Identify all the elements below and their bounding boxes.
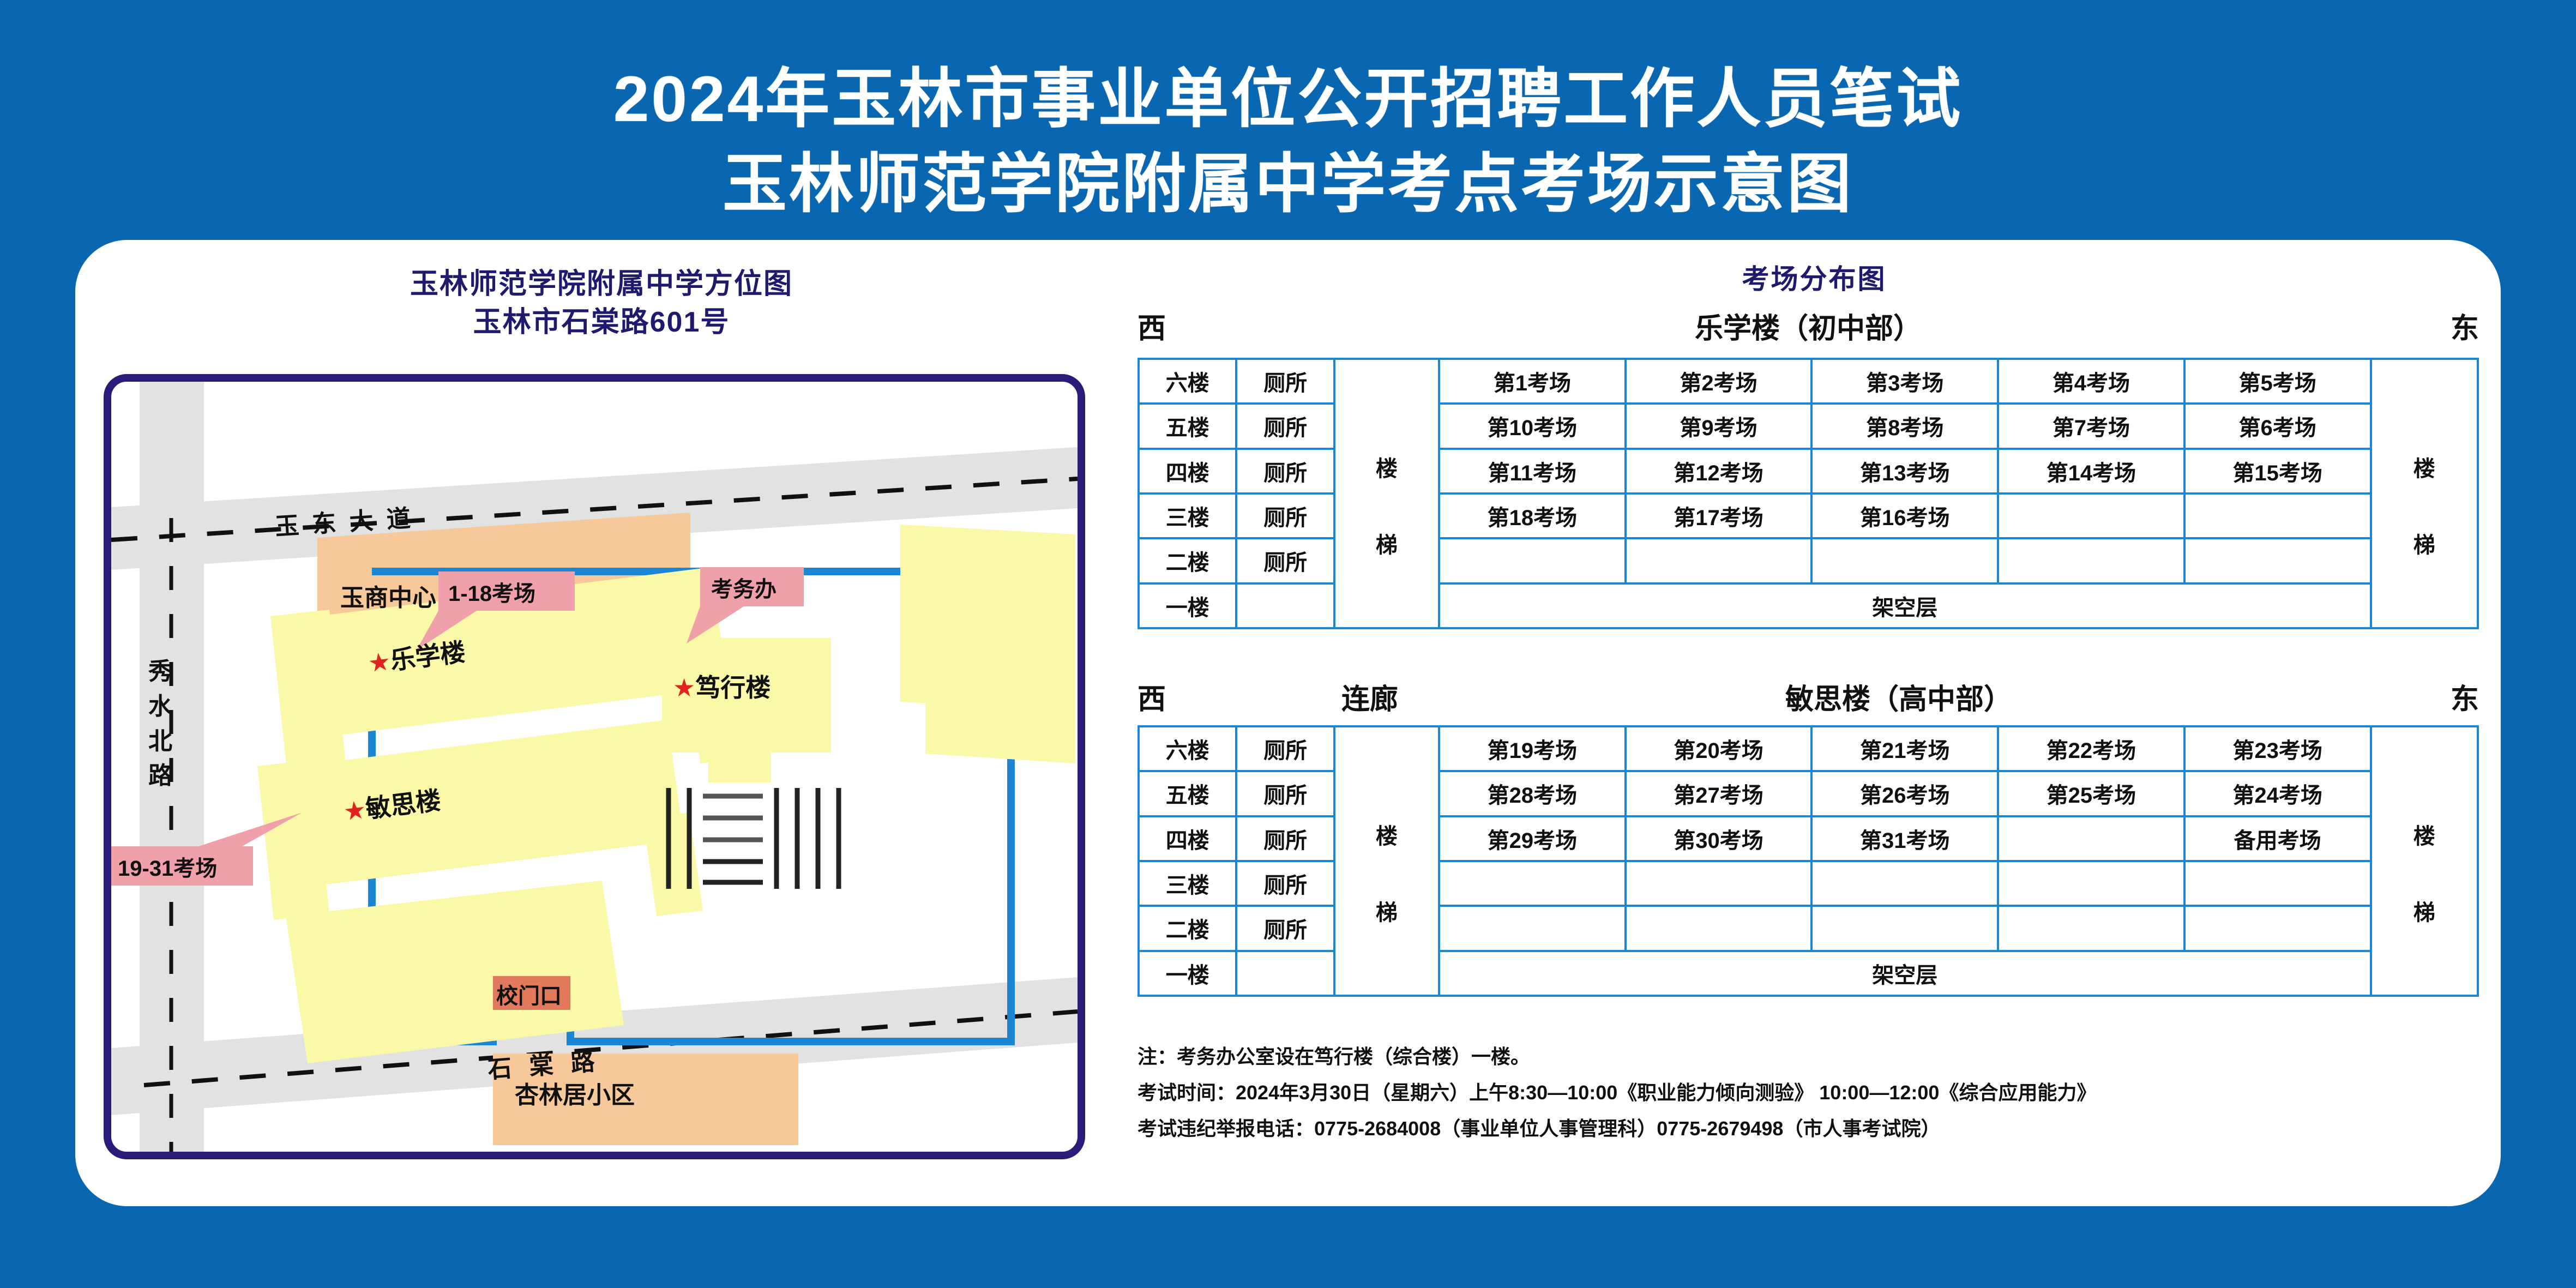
restroom-cell: 厕所 — [1236, 771, 1334, 816]
building-duxing-shape — [662, 638, 831, 783]
mall-label: 玉商中心 — [340, 578, 436, 613]
restroom-cell: 厕所 — [1236, 493, 1334, 538]
connector-label: 连廊 — [1321, 676, 1419, 717]
exam-room-cell: 第10考场 — [1439, 404, 1626, 448]
title-line-2: 玉林师范学院附属中学考点考场示意图 — [0, 142, 2576, 227]
restroom-cell: 厕所 — [1236, 359, 1334, 404]
floor-cell: 四楼 — [1139, 816, 1236, 861]
floor-cell: 一楼 — [1139, 583, 1236, 628]
building-1-header: 西 乐学楼（初中部） 东 — [1137, 305, 2479, 348]
open-floor-cell: 架空层 — [1439, 951, 2371, 996]
restroom-cell: 厕所 — [1236, 816, 1334, 861]
empty-cell — [1439, 538, 1626, 583]
gate-label: 校门口 — [496, 978, 562, 1010]
sports-track-lines — [703, 796, 763, 840]
exam-room-cell: 第22考场 — [1998, 726, 2184, 771]
restroom-cell: 厕所 — [1236, 726, 1334, 771]
empty-cell — [1998, 538, 2184, 583]
restroom-cell: 厕所 — [1236, 538, 1334, 583]
left-stairwell-cell: 楼梯 — [1334, 359, 1439, 628]
floor-cell: 五楼 — [1139, 771, 1236, 816]
callout-19-31-label: 19-31考场 — [118, 851, 217, 882]
floor-cell: 五楼 — [1139, 404, 1236, 448]
exam-room-cell: 第14考场 — [1998, 449, 2184, 493]
exam-room-cell: 第9考场 — [1626, 404, 1812, 448]
right-stairwell-cell: 楼梯 — [2371, 359, 2478, 628]
exam-room-cell: 第3考场 — [1811, 359, 1998, 404]
exam-room-cell: 第12考场 — [1626, 449, 1812, 493]
table-row: 六楼厕所楼梯第19考场第20考场第21考场第22考场第23考场楼梯 — [1139, 726, 2478, 771]
page-title: 2024年玉林市事业单位公开招聘工作人员笔试 玉林师范学院附属中学考点考场示意图 — [0, 57, 2576, 227]
title-line-1: 2024年玉林市事业单位公开招聘工作人员笔试 — [0, 57, 2576, 142]
empty-cell — [2184, 906, 2371, 950]
restroom-cell: 厕所 — [1236, 449, 1334, 493]
empty-cell — [1811, 861, 1998, 906]
empty-cell — [1811, 538, 1998, 583]
exam-room-distribution-section: 考场分布图 西 乐学楼（初中部） 东 六楼厕所楼梯第1考场第2考场第3考场第4考… — [1128, 240, 2501, 1206]
open-floor-cell: 架空层 — [1439, 583, 2371, 628]
exam-room-cell: 第27考场 — [1626, 771, 1812, 816]
exam-room-cell: 第26考场 — [1811, 771, 1998, 816]
table-row: 六楼厕所楼梯第1考场第2考场第3考场第4考场第5考场楼梯 — [1139, 359, 2478, 404]
restroom-cell: 厕所 — [1236, 404, 1334, 448]
exam-room-cell: 第4考场 — [1998, 359, 2184, 404]
floor-cell: 四楼 — [1139, 449, 1236, 493]
restroom-cell: 厕所 — [1236, 906, 1334, 950]
building-east-rows-shape — [900, 525, 1075, 763]
distribution-title: 考场分布图 — [1128, 257, 2501, 297]
residential-label: 杏林居小区 — [515, 1075, 635, 1110]
exam-room-cell: 第1考场 — [1439, 359, 1626, 404]
direction-east-2: 东 — [2451, 676, 2479, 717]
exam-room-cell: 第29考场 — [1439, 816, 1626, 861]
exam-room-cell: 第25考场 — [1998, 771, 2184, 816]
right-stairwell-cell: 楼梯 — [2371, 726, 2478, 996]
content-panel: 玉林师范学院附属中学方位图 玉林市石棠路601号 — [75, 240, 2501, 1206]
map-title-line-1: 玉林师范学院附属中学方位图 — [75, 261, 1128, 302]
exam-room-cell: 第7考场 — [1998, 404, 2184, 448]
floor-cell: 二楼 — [1139, 906, 1236, 950]
exam-room-cell: 第24考场 — [2184, 771, 2371, 816]
building-duxing-label: ★笃行楼 — [673, 668, 771, 704]
empty-cell — [1626, 538, 1812, 583]
empty-cell — [1998, 861, 2184, 906]
exam-room-cell: 第19考场 — [1439, 726, 1626, 771]
floor-cell: 二楼 — [1139, 538, 1236, 583]
exam-room-cell: 第18考场 — [1439, 493, 1626, 538]
restroom-cell: 厕所 — [1236, 861, 1334, 906]
note-line-3: 考试违纪举报电话：0775-2684008（事业单位人事管理科）0775-267… — [1137, 1119, 2479, 1139]
direction-east-1: 东 — [2451, 305, 2479, 346]
note-line-1: 注：考务办公室设在笃行楼（综合楼）一楼。 — [1137, 1047, 2479, 1067]
callout-kaowuban-label: 考务办 — [711, 571, 777, 603]
callout-1-18-label: 1-18考场 — [448, 576, 535, 607]
exam-room-cell: 第16考场 — [1811, 493, 1998, 538]
empty-cell — [1811, 906, 1998, 950]
exam-table-lexue: 六楼厕所楼梯第1考场第2考场第3考场第4考场第5考场楼梯五楼厕所第10考场第9考… — [1137, 358, 2479, 629]
exam-room-cell: 第17考场 — [1626, 493, 1812, 538]
direction-west-2: 西 — [1137, 676, 1166, 717]
star-icon: ★ — [366, 647, 392, 678]
empty-cell — [1626, 906, 1812, 950]
empty-cell — [2184, 538, 2371, 583]
map-frame: 玉 东 大 道 秀 水 北 路 石 棠 路 玉商中心 杏林居小区 校门口 ★乐学… — [104, 374, 1085, 1159]
exam-room-cell: 备用考场 — [2184, 816, 2371, 861]
exam-room-cell: 第20考场 — [1626, 726, 1812, 771]
exam-room-cell: 第21考场 — [1811, 726, 1998, 771]
road-left-label: 秀 水 北 路 — [148, 654, 174, 793]
building-1-name: 乐学楼（初中部） — [1137, 305, 2479, 346]
note-line-2: 考试时间：2024年3月30日（星期六）上午8:30—10:00《职业能力倾向测… — [1137, 1083, 2479, 1103]
star-icon: ★ — [673, 673, 695, 702]
exam-room-cell: 第23考场 — [2184, 726, 2371, 771]
empty-cell — [1998, 906, 2184, 950]
restroom-cell — [1236, 583, 1334, 628]
empty-cell — [1439, 861, 1626, 906]
map-title-line-2: 玉林市石棠路601号 — [75, 299, 1128, 340]
floor-cell: 六楼 — [1139, 726, 1236, 771]
exam-room-cell: 第15考场 — [2184, 449, 2371, 493]
exam-room-cell: 第31考场 — [1811, 816, 1998, 861]
empty-cell — [1998, 493, 2184, 538]
empty-cell — [1998, 816, 2184, 861]
floor-cell: 六楼 — [1139, 359, 1236, 404]
empty-cell — [1439, 906, 1626, 950]
exam-table-minsi: 六楼厕所楼梯第19考场第20考场第21考场第22考场第23考场楼梯五楼厕所第28… — [1137, 725, 2479, 997]
map-graphic — [111, 382, 1078, 1152]
exam-room-cell: 第8考场 — [1811, 404, 1998, 448]
floor-cell: 三楼 — [1139, 493, 1236, 538]
exam-room-cell: 第6考场 — [2184, 404, 2371, 448]
exam-room-cell: 第2考场 — [1626, 359, 1812, 404]
left-stairwell-cell: 楼梯 — [1334, 726, 1439, 996]
building-2-name: 敏思楼（高中部） — [1419, 676, 2379, 717]
empty-cell — [2184, 861, 2371, 906]
exam-room-cell: 第5考场 — [2184, 359, 2371, 404]
exam-room-cell: 第28考场 — [1439, 771, 1626, 816]
star-icon: ★ — [342, 795, 368, 826]
empty-cell — [2184, 493, 2371, 538]
notes-block: 注：考务办公室设在笃行楼（综合楼）一楼。 考试时间：2024年3月30日（星期六… — [1137, 1047, 2479, 1155]
floor-cell: 一楼 — [1139, 951, 1236, 996]
empty-cell — [1626, 861, 1812, 906]
sports-track-lines-dark — [703, 862, 763, 882]
exam-room-cell: 第11考场 — [1439, 449, 1626, 493]
exam-room-cell: 第30考场 — [1626, 816, 1812, 861]
exam-room-cell: 第13考场 — [1811, 449, 1998, 493]
building-2-header: 西 连廊 敏思楼（高中部） 东 — [1137, 676, 2479, 719]
floor-cell: 三楼 — [1139, 861, 1236, 906]
restroom-cell — [1236, 951, 1334, 996]
location-map-section: 玉林师范学院附属中学方位图 玉林市石棠路601号 — [75, 240, 1128, 1206]
